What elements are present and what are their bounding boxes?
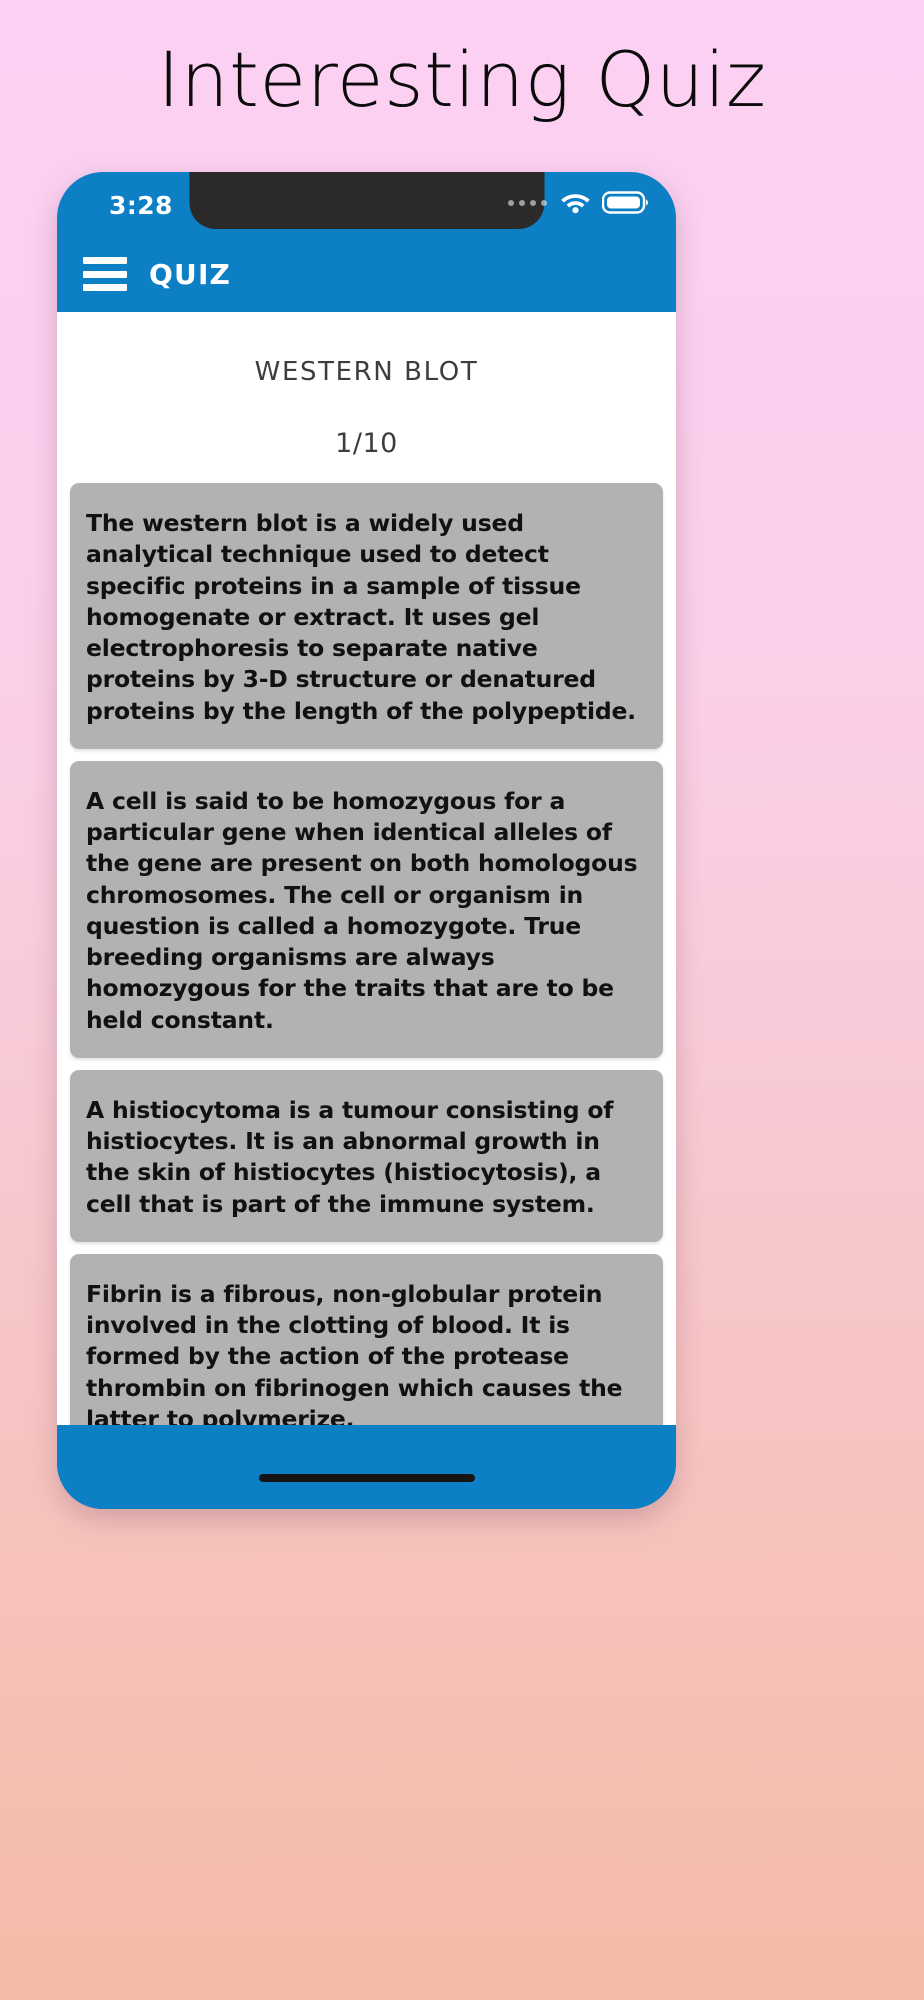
quiz-options-list: The western blot is a widely used analyt… [57,483,676,1425]
phone-bottom-bar [57,1425,676,1509]
hamburger-menu-icon[interactable] [83,257,127,291]
status-bar-time: 3:28 [109,191,173,220]
status-bar-indicators [508,190,650,215]
app-bar: QUIZ [57,236,676,312]
quiz-option-3[interactable]: A histiocytoma is a tumour consisting of… [70,1070,663,1242]
home-indicator-bar[interactable] [259,1474,475,1482]
quiz-question-title: WESTERN BLOT [57,357,676,387]
battery-full-icon [602,190,650,215]
app-bar-title: QUIZ [149,258,231,291]
quiz-option-text: A histiocytoma is a tumour consisting of… [86,1095,647,1220]
quiz-option-text: Fibrin is a fibrous, non-globular protei… [86,1279,647,1425]
signal-dots-icon [508,200,547,206]
quiz-option-1[interactable]: The western blot is a widely used analyt… [70,483,663,749]
page-title: Interesting Quiz [0,38,924,122]
quiz-option-4[interactable]: Fibrin is a fibrous, non-globular protei… [70,1254,663,1425]
status-bar: 3:28 [57,172,676,236]
quiz-option-text: The western blot is a widely used analyt… [86,508,647,727]
phone-mockup: 3:28 QUIZ WESTERN BLOT 1/10 [57,172,676,1509]
quiz-option-2[interactable]: A cell is said to be homozygous for a pa… [70,761,663,1058]
app-screen: WESTERN BLOT 1/10 The western blot is a … [57,312,676,1425]
wifi-icon [560,191,591,214]
quiz-progress-counter: 1/10 [57,428,676,459]
quiz-option-text: A cell is said to be homozygous for a pa… [86,786,647,1036]
